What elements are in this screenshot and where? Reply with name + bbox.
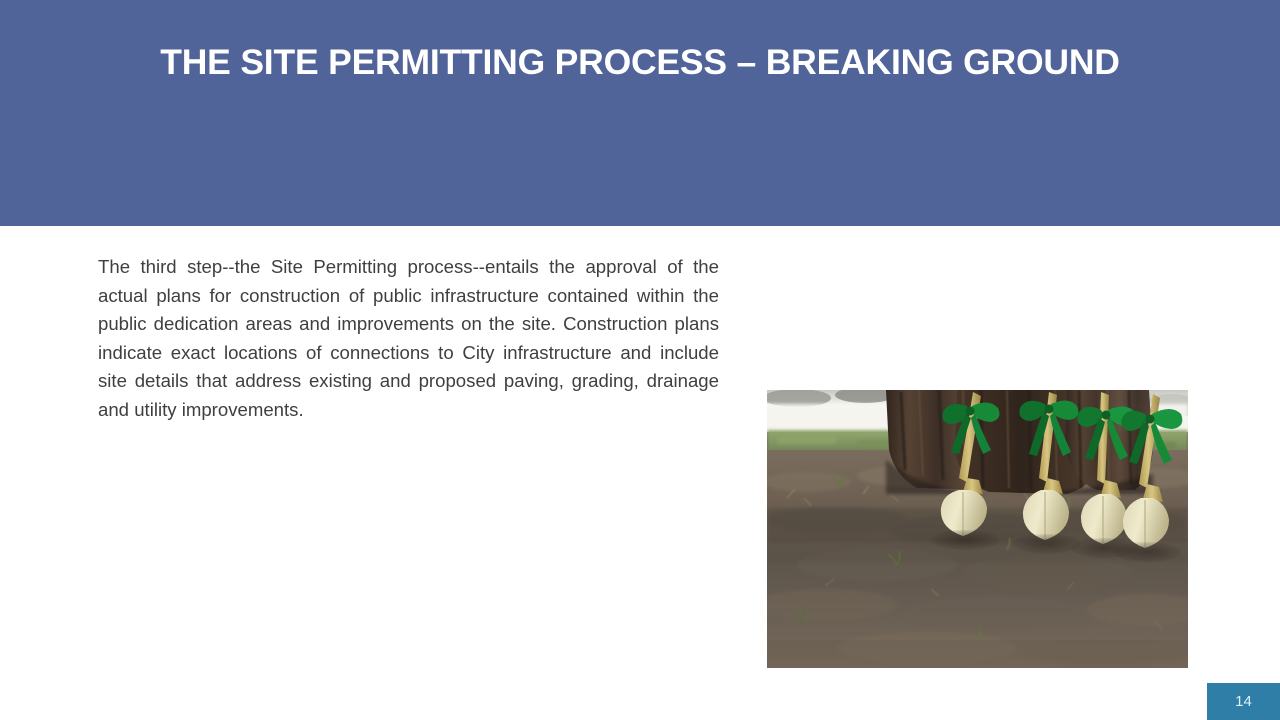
page-title: THE SITE PERMITTING PROCESS – BREAKING G… [0,40,1280,84]
slide-canvas: THE SITE PERMITTING PROCESS – BREAKING G… [0,0,1280,720]
body-paragraph: The third step--the Site Permitting proc… [98,253,719,424]
photo-image [767,390,1188,668]
groundbreaking-shovels-photo [767,390,1188,668]
title-banner: THE SITE PERMITTING PROCESS – BREAKING G… [0,0,1280,226]
page-number-badge: 14 [1207,683,1280,720]
